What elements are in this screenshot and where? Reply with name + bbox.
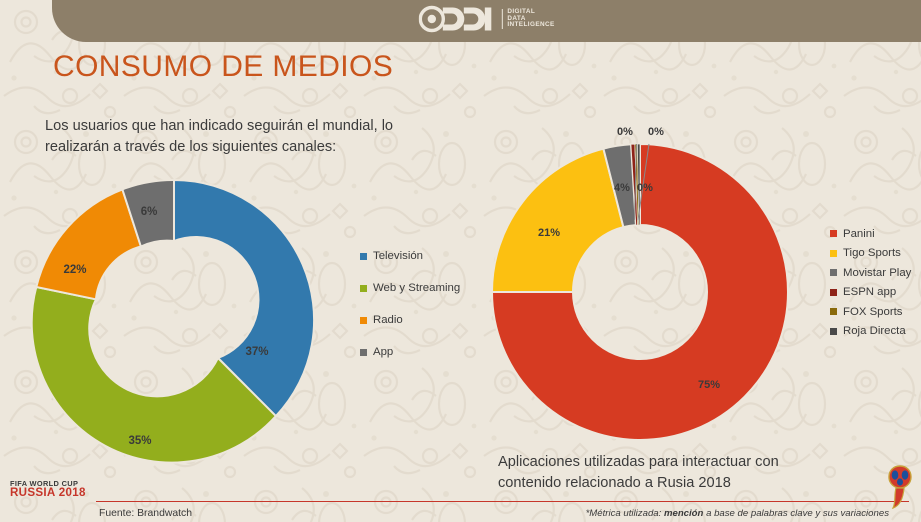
legend-item-radio[interactable]: Radio [360, 304, 460, 336]
slice-label-fox-sports: 0% [617, 126, 633, 138]
slice-label-app: 6% [141, 206, 158, 218]
legend-swatch-icon [360, 349, 367, 356]
source-note: Fuente: Brandwatch [99, 508, 192, 519]
slice-label-movistar-play: 4% [614, 182, 630, 194]
legend-label: App [373, 346, 393, 358]
apps-donut-svg [478, 120, 802, 444]
metric-note-bold: mención [664, 508, 703, 519]
footer-divider [96, 501, 909, 503]
legend-item-television[interactable]: Televisión [360, 240, 460, 272]
logo-line-inteligence: INTELIGENCE [507, 22, 554, 29]
apps-donut-chart: 75% 21% 4% 0% 0% 0% [478, 120, 802, 444]
legend-item-panini[interactable]: Panini [830, 224, 911, 244]
slice-tigo-sports[interactable] [492, 149, 623, 292]
fifa-trophy-icon [887, 464, 913, 510]
slice-label-espn-app: 0% [637, 182, 653, 194]
legend-swatch-icon [830, 308, 837, 315]
apps-chart-caption: Aplicaciones utilizadas para interactuar… [498, 452, 828, 494]
legend-swatch-icon [360, 285, 367, 292]
slice-radio[interactable] [36, 189, 141, 299]
ddi-logo: DIGITAL DATA INTELIGENCE [418, 4, 554, 34]
slice-label-panini: 75% [698, 379, 720, 391]
slice-label-television: 37% [245, 346, 268, 358]
ddi-circle-logo [418, 4, 496, 34]
legend-swatch-icon [830, 289, 837, 296]
legend-label: Roja Directa [843, 325, 906, 337]
fifa-world-cup-logo: FIFA WORLD CUP RUSSIA 2018 [10, 480, 86, 501]
legend-swatch-icon [360, 253, 367, 260]
slice-label-tigo-sports: 21% [538, 227, 560, 239]
media-chart-legend: Televisión Web y Streaming Radio App [360, 240, 460, 368]
legend-label: Radio [373, 314, 403, 326]
legend-swatch-icon [360, 317, 367, 324]
intro-text: Los usuarios que han indicado seguirán e… [45, 116, 435, 158]
legend-item-tigo-sports[interactable]: Tigo Sports [830, 244, 911, 264]
slide-canvas: DIGITAL DATA INTELIGENCE CONSUMO DE MEDI… [0, 0, 921, 522]
legend-label: Panini [843, 228, 875, 240]
legend-swatch-icon [830, 250, 837, 257]
legend-item-roja-directa[interactable]: Roja Directa [830, 322, 911, 342]
media-donut-svg [22, 160, 342, 465]
legend-item-web-streaming[interactable]: Web y Streaming [360, 272, 460, 304]
slice-label-radio: 22% [63, 264, 86, 276]
legend-swatch-icon [830, 269, 837, 276]
slice-label-roja-directa: 0% [648, 126, 664, 138]
legend-swatch-icon [830, 328, 837, 335]
fifa-logo-bottom-line: RUSSIA 2018 [10, 487, 86, 500]
media-donut-chart: 37% 35% 22% 6% [22, 160, 342, 465]
page-title: CONSUMO DE MEDIOS [53, 50, 393, 84]
metric-note-prefix: *Métrica utilizada: [586, 508, 664, 519]
legend-item-movistar-play[interactable]: Movistar Play [830, 263, 911, 283]
legend-label: Televisión [373, 250, 423, 262]
legend-item-fox-sports[interactable]: FOX Sports [830, 302, 911, 322]
legend-item-app[interactable]: App [360, 336, 460, 368]
legend-label: Movistar Play [843, 267, 911, 279]
legend-label: Tigo Sports [843, 247, 901, 259]
legend-item-espn-app[interactable]: ESPN app [830, 283, 911, 303]
legend-label: ESPN app [843, 286, 896, 298]
slice-television[interactable] [174, 180, 314, 416]
metric-note-suffix: a base de palabras clave y sus variacion… [703, 508, 889, 519]
apps-chart-legend: Panini Tigo Sports Movistar Play ESPN ap… [830, 224, 911, 341]
legend-label: FOX Sports [843, 306, 903, 318]
legend-label: Web y Streaming [373, 282, 460, 294]
legend-swatch-icon [830, 230, 837, 237]
header-band: DIGITAL DATA INTELIGENCE [52, 0, 921, 42]
metric-note: *Métrica utilizada: mención a base de pa… [586, 508, 889, 519]
slice-label-web-streaming: 35% [128, 435, 151, 447]
